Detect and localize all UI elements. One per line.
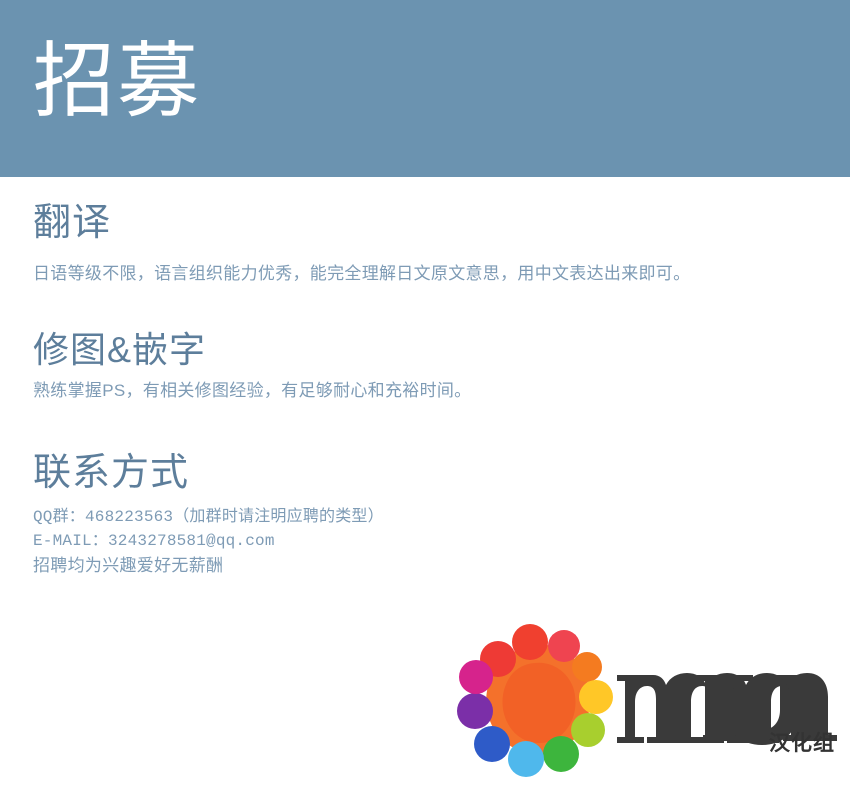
ring-dot-red-orange	[512, 624, 548, 660]
section-contact: 联系方式 QQ群：468223563（加群时请注明应聘的类型） E-MAIL：3…	[33, 452, 384, 579]
ring-dot-green	[543, 736, 579, 772]
logo-color-wheel-icon	[447, 611, 627, 791]
section-contact-heading: 联系方式	[33, 452, 384, 496]
section-translation: 翻译 日语等级不限，语言组织能力优秀，能完全理解日文原文意思，用中文表达出来即可…	[33, 202, 690, 286]
section-retouch-typesetting: 修图&嵌字 熟练掌握PS，有相关修图经验，有足够耐心和充裕时间。	[33, 329, 471, 404]
ring-dot-crimson	[548, 630, 580, 662]
contact-lines: QQ群：468223563（加群时请注明应聘的类型） E-MAIL：324327…	[33, 505, 384, 579]
logo-center-blob-shade	[502, 663, 575, 743]
ring-dot-purple	[457, 693, 493, 729]
ring-dot-light-blue	[508, 741, 544, 777]
ring-dot-blue	[474, 726, 510, 762]
page-title: 招募	[33, 36, 201, 128]
section-translation-heading: 翻译	[33, 202, 690, 246]
contact-email[interactable]: E-MAIL：3243278581@qq.com	[33, 529, 384, 553]
ring-dot-yellow	[579, 680, 613, 714]
header-banner: 招募	[0, 0, 850, 177]
logo-subtitle: 汉化组	[769, 733, 835, 754]
ring-dot-yellow-green	[571, 713, 605, 747]
section-retouch-description: 熟练掌握PS，有相关修图经验，有足够耐心和充裕时间。	[33, 378, 471, 404]
ring-dot-orange	[572, 652, 602, 682]
group-logo: 汉化组	[447, 611, 837, 791]
contact-qq-group[interactable]: QQ群：468223563（加群时请注明应聘的类型）	[33, 505, 384, 529]
ring-dot-magenta	[459, 660, 493, 694]
contact-note-unpaid: 招聘均为兴趣爱好无薪酬	[33, 553, 384, 579]
section-retouch-heading: 修图&嵌字	[33, 329, 471, 370]
section-translation-description: 日语等级不限，语言组织能力优秀，能完全理解日文原文意思，用中文表达出来即可。	[33, 261, 690, 287]
